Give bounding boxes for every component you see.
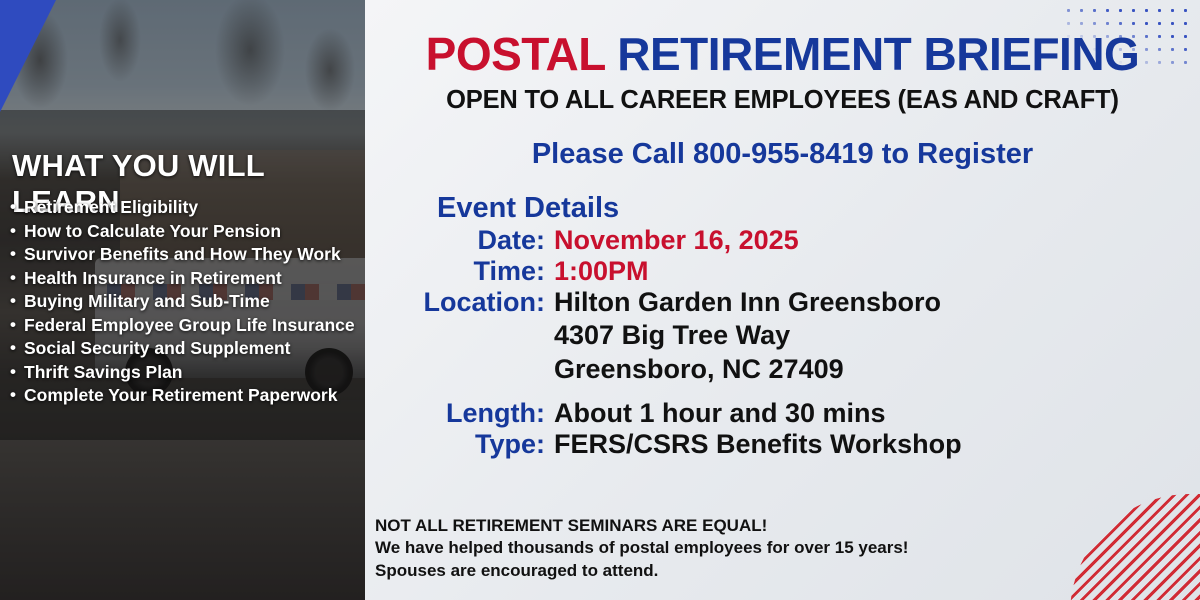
page-title: POSTAL RETIREMENT BRIEFING (365, 28, 1200, 80)
event-flyer: WHAT YOU WILL LEARN Retirement Eligibili… (0, 0, 1200, 600)
time-label: Time: (365, 256, 554, 287)
list-item: How to Calculate Your Pension (10, 220, 365, 244)
title-part-postal: POSTAL (426, 28, 605, 80)
date-value: November 16, 2025 (554, 225, 799, 256)
list-item: Health Insurance in Retirement (10, 267, 365, 291)
footer-note: NOT ALL RETIREMENT SEMINARS ARE EQUAL! W… (375, 515, 1075, 583)
subtitle: OPEN TO ALL CAREER EMPLOYEES (EAS AND CR… (365, 86, 1200, 115)
location-value-line3: Greensboro, NC 27409 (554, 352, 1200, 386)
list-item: Social Security and Supplement (10, 337, 365, 361)
learn-list: Retirement Eligibility How to Calculate … (10, 196, 365, 408)
date-label: Date: (365, 225, 554, 256)
length-label: Length: (365, 398, 554, 429)
red-arc-decoration (1070, 494, 1200, 600)
photo-panel: WHAT YOU WILL LEARN Retirement Eligibili… (0, 0, 365, 600)
footer-line-2: We have helped thousands of postal emplo… (375, 537, 1075, 560)
list-item: Thrift Savings Plan (10, 361, 365, 385)
event-details-block: Event Details Date: November 16, 2025 Ti… (365, 192, 1200, 460)
type-label: Type: (365, 429, 554, 460)
content-panel: POSTAL RETIREMENT BRIEFING OPEN TO ALL C… (365, 0, 1200, 600)
list-item: Retirement Eligibility (10, 196, 365, 220)
list-item: Federal Employee Group Life Insurance (10, 314, 365, 338)
detail-row-location: Location: Hilton Garden Inn Greensboro (365, 287, 1200, 318)
event-details-heading: Event Details (437, 192, 1200, 225)
footer-line-3: Spouses are encouraged to attend. (375, 560, 1075, 583)
footer-line-1: NOT ALL RETIREMENT SEMINARS ARE EQUAL! (375, 515, 1075, 538)
detail-row-date: Date: November 16, 2025 (365, 225, 1200, 256)
list-item: Buying Military and Sub-Time (10, 290, 365, 314)
register-call-line: Please Call 800-955-8419 to Register (365, 138, 1200, 171)
location-value-line2: 4307 Big Tree Way (554, 318, 1200, 352)
location-label: Location: (365, 287, 554, 318)
time-value: 1:00PM (554, 256, 649, 287)
detail-row-type: Type: FERS/CSRS Benefits Workshop (365, 429, 1200, 460)
detail-row-length: Length: About 1 hour and 30 mins (365, 398, 1200, 429)
title-part-retirement-briefing: RETIREMENT BRIEFING (605, 28, 1139, 80)
length-value: About 1 hour and 30 mins (554, 398, 886, 429)
list-item: Survivor Benefits and How They Work (10, 243, 365, 267)
type-value: FERS/CSRS Benefits Workshop (554, 429, 962, 460)
detail-row-time: Time: 1:00PM (365, 256, 1200, 287)
list-item: Complete Your Retirement Paperwork (10, 384, 365, 408)
location-value-line1: Hilton Garden Inn Greensboro (554, 287, 941, 318)
